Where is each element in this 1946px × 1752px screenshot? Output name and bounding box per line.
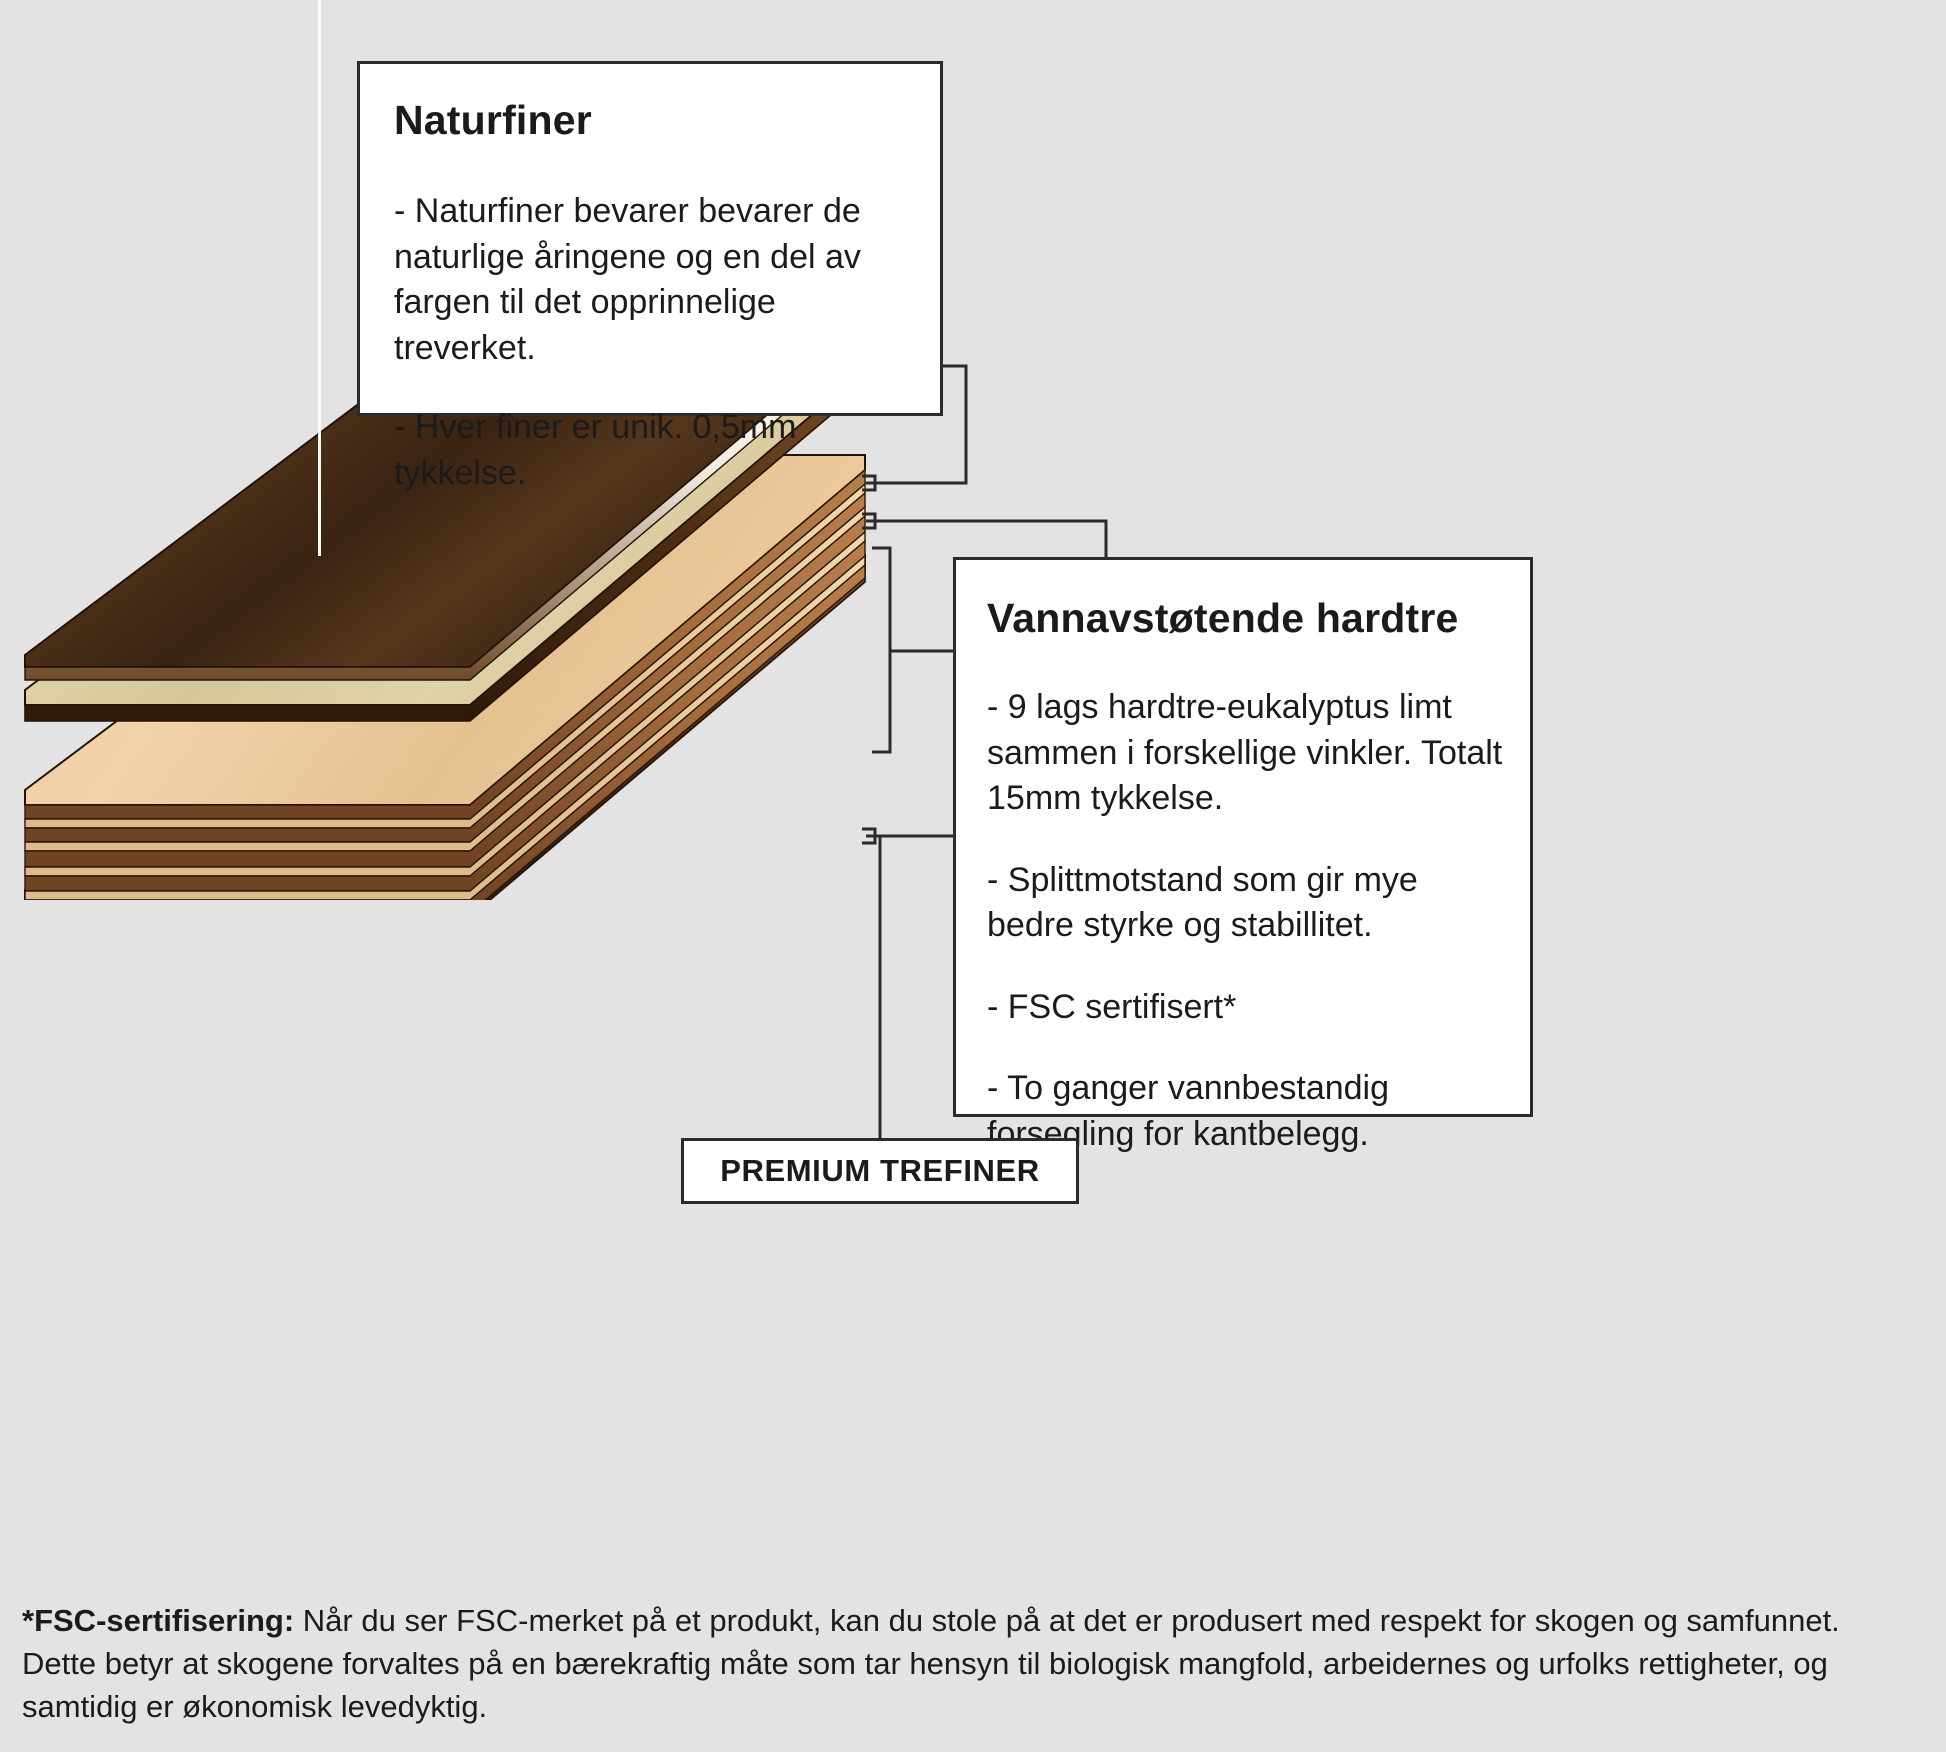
- callout-hardtre-bullet-2: - Splittmotstand som gir mye bedre styrk…: [987, 858, 1508, 949]
- callout-hardtre-bullet-1: - 9 lags hardtre-eukalyptus limt sammen …: [987, 685, 1508, 822]
- callout-naturfiner-bullet-1: - Naturfiner bevarer bevarer de naturlig…: [394, 189, 910, 371]
- fsc-footnote-lead: *FSC-sertifisering:: [22, 1603, 294, 1638]
- infographic-stage: Naturfiner - Naturfiner bevarer bevarer …: [0, 0, 1946, 1752]
- premium-trefiner-label: PREMIUM TREFINER: [720, 1153, 1040, 1189]
- callout-naturfiner-bullet-2: - Hver finer er unik. 0,5mm tykkelse.: [394, 405, 910, 496]
- bracket-core: [872, 548, 890, 752]
- callout-naturfiner-title: Naturfiner: [394, 98, 910, 143]
- callout-naturfiner: Naturfiner - Naturfiner bevarer bevarer …: [357, 61, 943, 416]
- callout-hardtre-title: Vannavstøtende hardtre: [987, 596, 1508, 641]
- fsc-footnote-text: Når du ser FSC-merket på et produkt, kan…: [22, 1603, 1840, 1724]
- fsc-footnote: *FSC-sertifisering: Når du ser FSC-merke…: [22, 1600, 1922, 1728]
- callout-vannavstotende-hardtre: Vannavstøtende hardtre - 9 lags hardtre-…: [953, 557, 1533, 1117]
- callout-hardtre-bullet-3: - FSC sertifisert*: [987, 985, 1508, 1031]
- callout-premium-trefiner: PREMIUM TREFINER: [681, 1138, 1079, 1204]
